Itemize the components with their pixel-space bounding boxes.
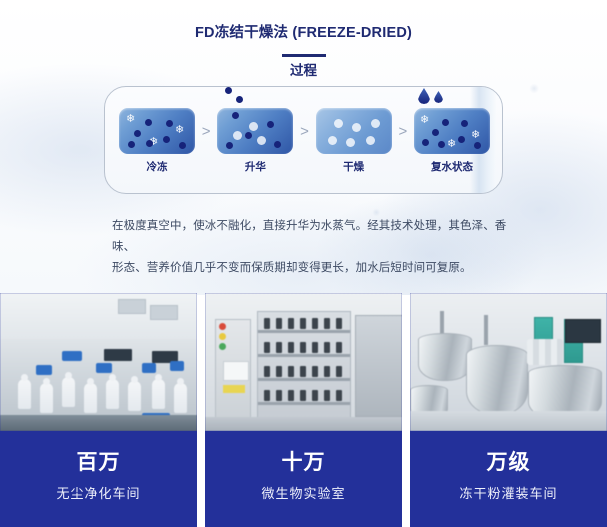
particle-dot bbox=[163, 136, 170, 143]
page-header: FD冻结干燥法 (FREEZE-DRIED) 过程 bbox=[0, 24, 607, 79]
freeze-dried-filling-room-photo bbox=[410, 293, 607, 431]
panel-caption: 十万 微生物实验室 bbox=[205, 431, 402, 527]
particle-dot bbox=[245, 132, 252, 139]
process-step-drying: 干燥 bbox=[316, 108, 392, 174]
snowflake-icon: ❄ bbox=[175, 125, 184, 136]
particle-dot bbox=[232, 112, 239, 119]
particle-dot bbox=[226, 142, 233, 149]
void-hole bbox=[328, 136, 337, 145]
particle-dot bbox=[432, 129, 439, 136]
panel-description: 冻干粉灌装车间 bbox=[410, 485, 607, 502]
void-hole bbox=[257, 136, 266, 145]
void-hole bbox=[249, 122, 258, 131]
particle-dot bbox=[422, 139, 429, 146]
panel-caption: 百万 无尘净化车间 bbox=[0, 431, 197, 527]
description-line-1: 在极度真空中，使冰不融化，直接升华为水蒸气。经其技术处理，其色泽、香味、 bbox=[112, 216, 512, 258]
rehydrated-vessel-icon: ❄ ❄ ❄ bbox=[414, 108, 490, 154]
process-step-rehydration: ❄ ❄ ❄ 复水状态 bbox=[414, 108, 490, 174]
water-drop-small-icon bbox=[434, 91, 443, 103]
title-divider bbox=[282, 54, 326, 57]
sublimation-vessel-icon bbox=[217, 108, 293, 154]
particle-dot bbox=[461, 120, 468, 127]
particle-dot bbox=[442, 119, 449, 126]
facility-panel-microbiology-lab[interactable]: 十万 微生物实验室 bbox=[205, 293, 402, 527]
panel-number: 万级 bbox=[410, 450, 607, 475]
void-hole bbox=[371, 119, 380, 128]
particle-dot bbox=[128, 141, 135, 148]
process-diagram-card: ❄ ❄ ❄ 冷冻 > bbox=[104, 86, 503, 194]
facility-panel-filling-room[interactable]: 万级 冻干粉灌装车间 bbox=[410, 293, 607, 527]
process-step-sublimation: 升华 bbox=[217, 108, 293, 174]
particle-dot bbox=[179, 142, 186, 149]
description-line-2: 形态、营养价值几乎不变而保质期却变得更长，加水后短时间可复原。 bbox=[112, 258, 512, 279]
panel-description: 微生物实验室 bbox=[205, 485, 402, 502]
water-droplets-icon bbox=[418, 88, 452, 108]
void-hole bbox=[334, 119, 343, 128]
page-root: FD冻结干燥法 (FREEZE-DRIED) 过程 ❄ ❄ ❄ bbox=[0, 0, 607, 527]
step-label: 冷冻 bbox=[119, 161, 195, 174]
frozen-vessel-icon: ❄ ❄ ❄ bbox=[119, 108, 195, 154]
step-separator-icon: > bbox=[202, 109, 211, 155]
description-paragraph: 在极度真空中，使冰不融化，直接升华为水蒸气。经其技术处理，其色泽、香味、 形态、… bbox=[112, 216, 512, 279]
water-drop-large-icon bbox=[418, 88, 430, 104]
panel-description: 无尘净化车间 bbox=[0, 485, 197, 502]
void-hole bbox=[352, 123, 361, 132]
process-step-freeze: ❄ ❄ ❄ 冷冻 bbox=[119, 108, 195, 174]
panel-number: 十万 bbox=[205, 450, 402, 475]
step-separator-icon: > bbox=[398, 109, 407, 155]
cleanroom-photo bbox=[0, 293, 197, 431]
page-title: FD冻结干燥法 (FREEZE-DRIED) bbox=[0, 24, 607, 42]
snowflake-icon: ❄ bbox=[471, 130, 480, 141]
step-label: 升华 bbox=[217, 161, 293, 174]
step-separator-icon: > bbox=[300, 109, 309, 155]
escaping-particle-dot bbox=[225, 87, 232, 94]
section-subtitle: 过程 bbox=[0, 62, 607, 79]
panel-number: 百万 bbox=[0, 450, 197, 475]
void-hole bbox=[346, 138, 355, 147]
panel-caption: 万级 冻干粉灌装车间 bbox=[410, 431, 607, 527]
void-hole bbox=[233, 131, 242, 140]
dried-vessel-icon bbox=[316, 108, 392, 154]
particle-dot bbox=[274, 141, 281, 148]
particle-dot bbox=[166, 120, 173, 127]
particle-dot bbox=[146, 140, 153, 147]
snowflake-icon: ❄ bbox=[420, 115, 429, 126]
particle-dot bbox=[438, 141, 445, 148]
particle-dot bbox=[267, 121, 274, 128]
snowflake-icon: ❄ bbox=[447, 139, 456, 150]
snowflake-icon: ❄ bbox=[126, 114, 135, 125]
particle-dot bbox=[458, 136, 465, 143]
facility-panel-cleanroom[interactable]: 百万 无尘净化车间 bbox=[0, 293, 197, 527]
particle-dot bbox=[134, 130, 141, 137]
escaping-particle-dot bbox=[236, 96, 243, 103]
process-steps: ❄ ❄ ❄ 冷冻 > bbox=[105, 87, 503, 194]
particle-dot bbox=[145, 119, 152, 126]
step-label: 复水状态 bbox=[414, 161, 490, 174]
microbiology-lab-photo bbox=[205, 293, 402, 431]
facility-panels: 百万 无尘净化车间 bbox=[0, 293, 607, 527]
step-label: 干燥 bbox=[316, 161, 392, 174]
particle-dot bbox=[474, 142, 481, 149]
void-hole bbox=[366, 136, 375, 145]
